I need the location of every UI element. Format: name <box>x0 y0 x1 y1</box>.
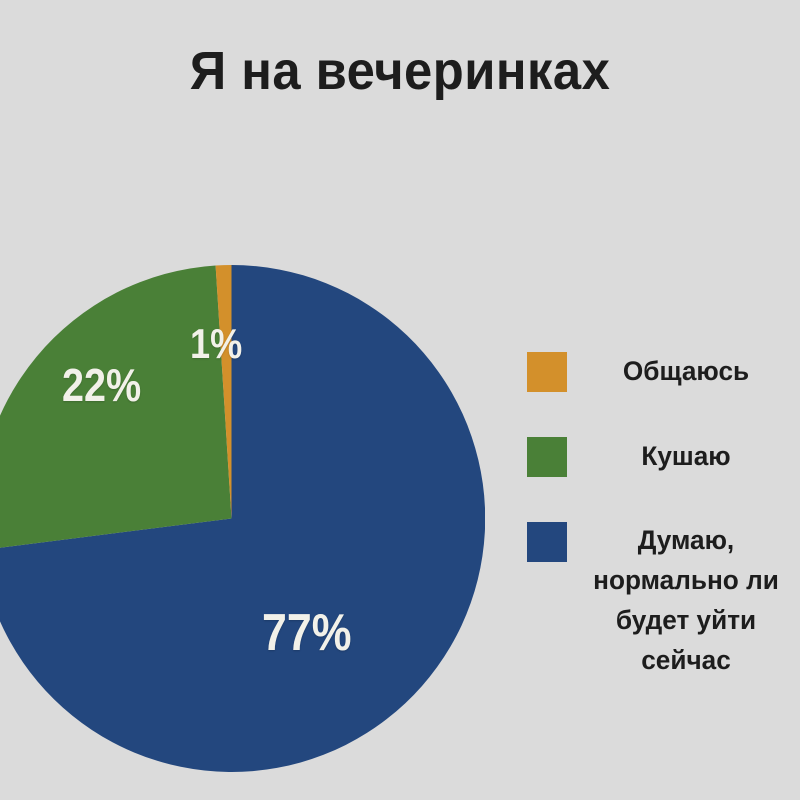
legend-swatch-green <box>527 437 567 477</box>
legend-label-eat: Кушаю <box>575 438 796 474</box>
legend-swatch-blue <box>527 522 567 562</box>
legend-swatch-orange <box>527 352 567 392</box>
legend-label-communicate: Общаюсь <box>575 353 796 389</box>
legend-item-communicate[interactable]: Общаюсь <box>520 330 800 415</box>
legend-item-eat[interactable]: Кушаю <box>520 415 800 500</box>
pie-label-communicate: 1% <box>190 320 242 368</box>
pie-chart-image: Я на вечеринках 1% 22% 77% Общаюсь Кушаю… <box>0 0 800 800</box>
pie-label-think: 77% <box>262 603 352 663</box>
pie-label-eat: 22% <box>62 358 141 412</box>
pie-chart-graphic <box>0 265 485 772</box>
legend-item-think[interactable]: Думаю, нормально ли будет уйти сейчас <box>520 500 800 680</box>
pie-chart-area: 1% 22% 77% <box>0 0 520 800</box>
legend-label-think: Думаю, нормально ли будет уйти сейчас <box>575 520 796 680</box>
legend: Общаюсь Кушаю Думаю, нормально ли будет … <box>520 330 800 680</box>
